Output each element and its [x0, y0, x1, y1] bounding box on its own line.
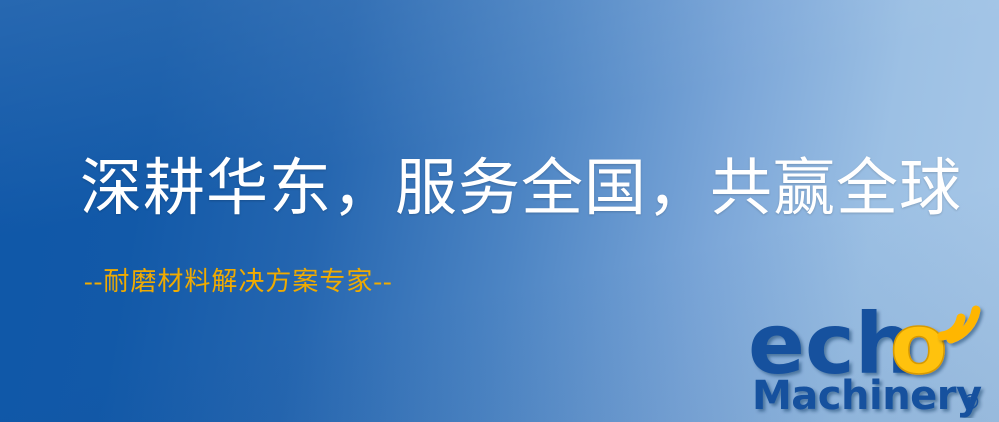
company-logo: ech o Machinery ® [748, 296, 996, 418]
logo-trademark-symbol: ® [961, 390, 981, 414]
promo-banner: 深耕华东，服务全国，共赢全球 --耐磨材料解决方案专家-- ech o [0, 0, 999, 422]
banner-subtitle: --耐磨材料解决方案专家-- [84, 266, 393, 298]
logo-word-machinery: Machinery [752, 373, 982, 418]
banner-headline: 深耕华东，服务全国，共赢全球 [80, 152, 962, 226]
